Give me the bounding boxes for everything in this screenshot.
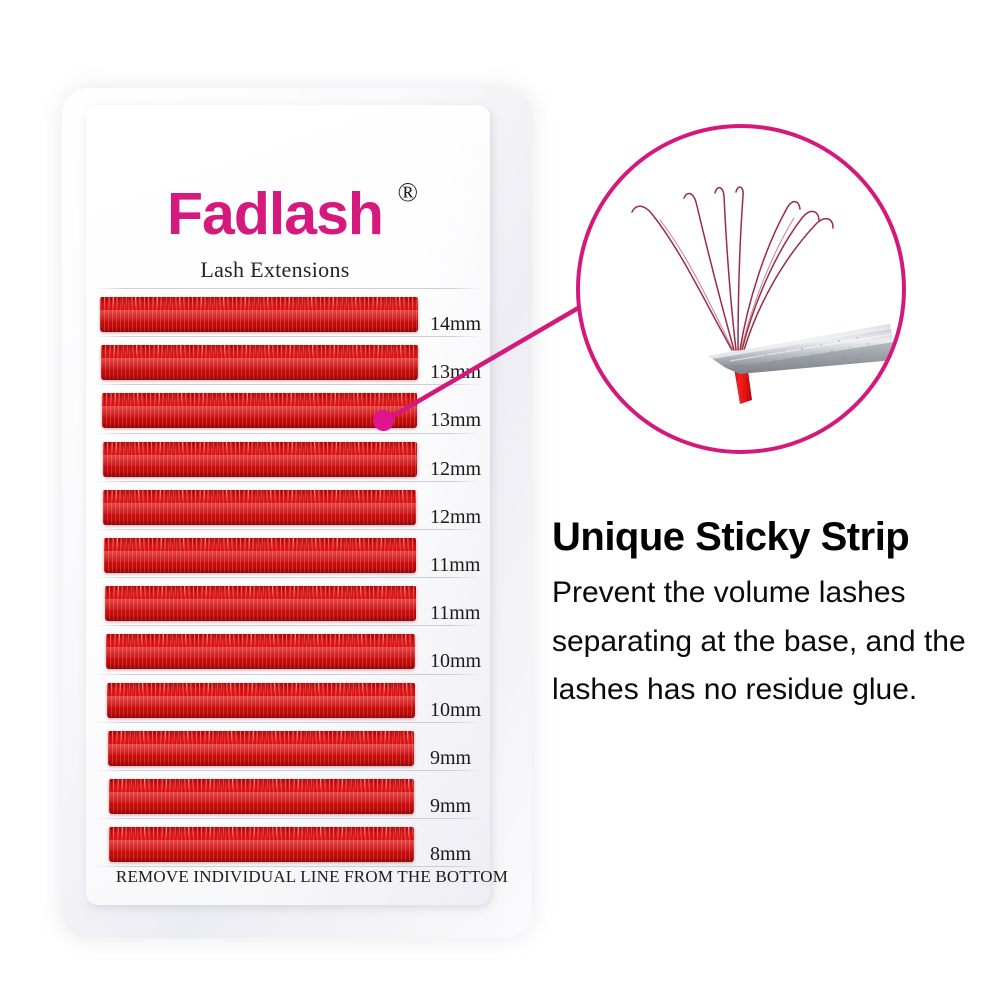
lash-fringe: [103, 490, 416, 502]
lash-size-label: 13mm: [430, 361, 481, 384]
lash-size-label: 10mm: [430, 699, 481, 722]
lash-strip: [103, 490, 416, 525]
lash-fringe: [104, 538, 416, 550]
lash-size-label: 11mm: [430, 554, 480, 577]
lash-row[interactable]: [101, 345, 418, 380]
lash-strip: [106, 634, 415, 669]
lash-strip: [109, 779, 415, 814]
lash-size-label: 8mm: [430, 843, 471, 866]
lash-row[interactable]: [107, 683, 415, 718]
lash-strip: [105, 586, 416, 621]
feature-body-line: Prevent the volume lashes: [552, 569, 972, 618]
lash-fringe: [102, 393, 418, 405]
lash-row-list: 14mm13mm13mm12mm12mm11mm11mm10mm10mm9mm9…: [86, 105, 490, 905]
lash-gloss: [105, 599, 416, 610]
lash-row[interactable]: [104, 538, 416, 573]
lash-gloss: [103, 503, 416, 514]
lash-size-label: 9mm: [430, 795, 471, 818]
lash-size-label: 9mm: [430, 747, 471, 770]
lash-strip: [103, 442, 417, 477]
lash-row[interactable]: [103, 490, 416, 525]
row-separator: [94, 577, 482, 578]
feature-copy-block: Unique Sticky Strip Prevent the volume l…: [552, 516, 972, 715]
lash-row[interactable]: [109, 779, 415, 814]
row-separator: [94, 384, 482, 385]
lash-size-label: 14mm: [430, 313, 481, 336]
tray-inner-card: Fadlash ® Lash Extensions 14mm13mm13mm12…: [86, 105, 490, 905]
callout-anchor-dot: [373, 410, 394, 431]
row-separator: [94, 625, 482, 626]
lash-row[interactable]: [102, 393, 418, 428]
lash-fringe: [101, 345, 418, 357]
lash-gloss: [104, 551, 416, 562]
lash-strip: [102, 393, 418, 428]
row-separator: [94, 674, 482, 675]
feature-body-line: lashes has no residue glue.: [552, 666, 972, 715]
lash-gloss: [108, 744, 415, 755]
lash-strip: [101, 345, 418, 380]
row-separator: [94, 722, 482, 723]
lash-fringe: [106, 634, 415, 646]
lash-fringe: [108, 731, 415, 743]
lash-fringe: [109, 779, 415, 791]
magnifier-callout-circle: [576, 124, 906, 454]
lash-fringe: [103, 442, 417, 454]
feature-heading: Unique Sticky Strip: [552, 516, 972, 559]
lash-row[interactable]: [103, 442, 417, 477]
lash-gloss: [103, 455, 417, 466]
lash-row[interactable]: [108, 731, 415, 766]
feature-body-lines: Prevent the volume lashesseparating at t…: [552, 569, 972, 715]
lash-strip: [104, 538, 416, 573]
lash-size-label: 10mm: [430, 650, 481, 673]
lash-row[interactable]: [105, 586, 416, 621]
lash-gloss: [106, 647, 415, 658]
lash-fringe: [100, 297, 418, 309]
row-separator: [94, 818, 482, 819]
lash-gloss: [101, 358, 418, 369]
lash-gloss: [107, 696, 415, 707]
lash-strip: [109, 827, 413, 862]
lash-row[interactable]: [100, 297, 418, 332]
lash-strip: [108, 731, 415, 766]
row-separator: [94, 336, 482, 337]
feature-body-line: separating at the base, and the: [552, 618, 972, 667]
lash-strip: [107, 683, 415, 718]
row-separator: [94, 481, 482, 482]
lash-fringe: [107, 683, 415, 695]
lash-gloss: [109, 792, 415, 803]
sticky-strip-illustration: [580, 128, 894, 442]
tray-instruction-text: REMOVE INDIVIDUAL LINE FROM THE BOTTOM: [110, 867, 514, 887]
lash-row[interactable]: [106, 634, 415, 669]
lash-gloss: [102, 406, 418, 417]
row-separator: [94, 529, 482, 530]
lash-gloss: [100, 310, 418, 321]
lash-row[interactable]: [109, 827, 413, 862]
row-separator: [94, 288, 482, 289]
lash-strip: [100, 297, 418, 332]
lash-fringe: [109, 827, 413, 839]
product-image-canvas: Fadlash ® Lash Extensions 14mm13mm13mm12…: [0, 0, 1001, 1001]
lash-size-label: 12mm: [430, 506, 481, 529]
lash-fringe: [105, 586, 416, 598]
lash-size-label: 12mm: [430, 458, 481, 481]
lash-size-label: 11mm: [430, 602, 480, 625]
lash-tray-package: Fadlash ® Lash Extensions 14mm13mm13mm12…: [62, 88, 532, 938]
row-separator: [94, 770, 482, 771]
lash-size-label: 13mm: [430, 409, 481, 432]
lash-gloss: [109, 840, 413, 851]
row-separator: [94, 433, 482, 434]
